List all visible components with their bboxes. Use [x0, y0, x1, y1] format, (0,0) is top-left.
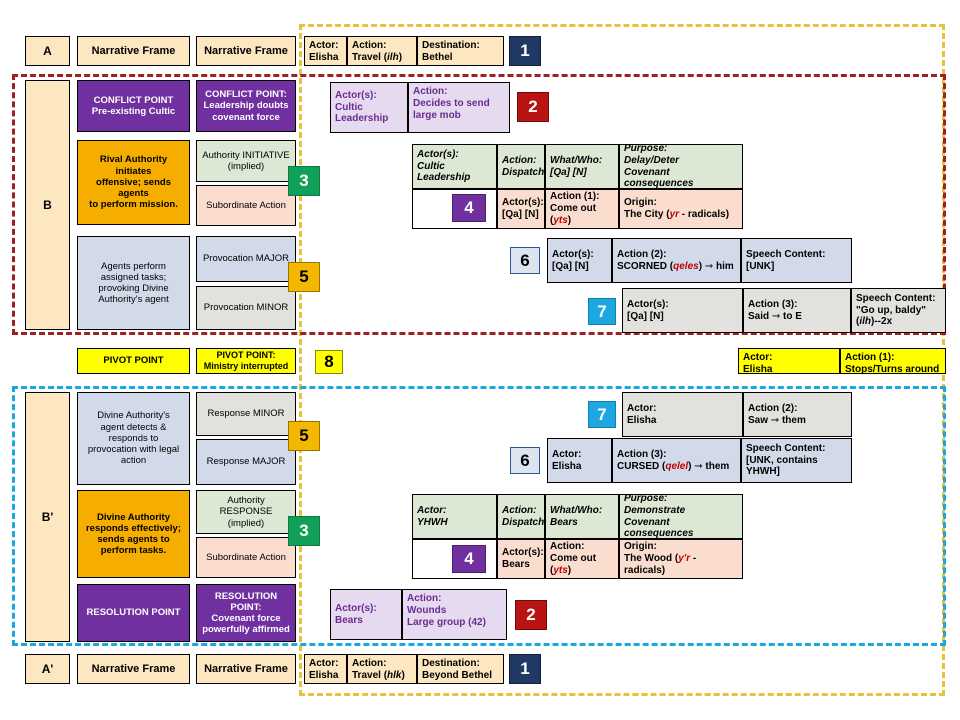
rival-line2: offensive; sends agents	[81, 177, 186, 199]
actor-label: Actor:	[743, 352, 772, 364]
action-line2: Large group (42)	[407, 617, 486, 629]
whatwho-value: Bears	[550, 517, 578, 529]
conflict-detail-line3: covenant force	[212, 112, 280, 123]
purpose-line2: Covenant consequences	[624, 517, 738, 541]
conflict-point-line2: Pre-existing Cultic	[92, 106, 175, 117]
action-line1: Wounds	[407, 605, 446, 617]
purpose-label: Purpose:	[624, 493, 667, 505]
action-label: Action (1):	[845, 352, 894, 364]
actor-value: Bears	[335, 615, 363, 627]
badge-8-pivot: 8	[315, 350, 343, 374]
badge-4-section-bprime: 4	[452, 545, 486, 573]
sub-action-value: Come out (yts)	[550, 203, 614, 227]
action-label: Action:	[413, 86, 447, 98]
section-b-sub-action: Action (1): Come out (yts)	[545, 189, 619, 229]
section-bprime-detail2-action: Action: Wounds Large group (42)	[402, 589, 507, 640]
section-bprime-divine-responds: Divine Authority responds effectively; s…	[77, 490, 190, 578]
section-bprime-subordinate-action: Subordinate Action	[196, 537, 296, 578]
agents-line4: Authority's agent	[98, 294, 168, 305]
action-value: Travel (ilh)	[352, 52, 402, 64]
actor-label: Actor:	[417, 505, 446, 517]
section-b-rival-authority: Rival Authority initiates offensive; sen…	[77, 140, 190, 225]
section-bprime-detail7-actor: Actor: Elisha	[622, 392, 743, 437]
section-aprime-label: A'	[25, 654, 70, 684]
action-line2: large mob	[413, 110, 461, 122]
action-label: Action:	[407, 593, 441, 605]
section-a-actor-cell: Actor: Elisha	[304, 36, 347, 66]
pivot-point-detail: PIVOT POINT: Ministry interrupted	[196, 348, 296, 374]
rival-line1: Rival Authority initiates	[81, 154, 186, 176]
destination-label: Destination:	[422, 40, 480, 52]
section-bprime-response-major: Response MAJOR	[196, 439, 296, 485]
badge-5-section-bprime: 5	[288, 421, 320, 451]
section-bprime-response-minor: Response MINOR	[196, 392, 296, 436]
action-label: Action:	[502, 155, 536, 167]
section-b-sub-actor: Actor(s): [Qa] [N]	[497, 189, 545, 229]
actor-value: [Qa] [N]	[552, 261, 589, 273]
region-divider-yellow-left	[299, 24, 302, 696]
section-b-conflict-point: CONFLICT POINT Pre-existing Cultic	[77, 80, 190, 132]
section-b-detail6-speech: Speech Content: [UNK]	[741, 238, 852, 283]
actor-value: Elisha	[743, 364, 772, 376]
destination-value: Bethel	[422, 52, 453, 64]
divine-responds-line2: responds effectively;	[86, 523, 181, 534]
action-label: Action:	[502, 505, 536, 517]
badge-3-section-b: 3	[288, 166, 320, 196]
section-b-detail2-actor: Actor(s): Cultic Leadership	[330, 82, 408, 133]
actor-value: YHWH	[417, 517, 448, 529]
origin-label: Origin:	[624, 541, 657, 553]
action-value: Said ⇾ to E	[748, 311, 802, 323]
pivot-point-left: PIVOT POINT	[77, 348, 190, 374]
section-aprime-actor-cell: Actor: Elisha	[304, 654, 347, 684]
section-a-label: A	[25, 36, 70, 66]
section-bprime-detail6-actor: Actor: Elisha	[547, 438, 612, 483]
action-line1: Decides to send	[413, 98, 490, 110]
origin-value: The Wood (y'r - radicals)	[624, 553, 738, 577]
actor-label: Actor:	[627, 403, 656, 415]
section-b-dispatch-whatwho: What/Who: [Qa] [N]	[545, 144, 619, 189]
actor-value: Elisha	[309, 670, 338, 682]
actor-label: Actor(s):	[335, 90, 377, 102]
section-a-frame-2: Narrative Frame	[196, 36, 296, 66]
section-b-dispatch-action: Action: Dispatch	[497, 144, 545, 189]
section-bprime-dispatch-action: Action: Dispatch	[497, 494, 545, 539]
actor-label: Actor:	[309, 40, 338, 52]
section-a-destination-cell: Destination: Bethel	[417, 36, 504, 66]
section-aprime-action-cell: Action: Travel (hlk)	[347, 654, 417, 684]
section-bprime-dispatch-purpose: Purpose: Demonstrate Covenant consequenc…	[619, 494, 743, 539]
speech-value: [UNK, contains YHWH]	[746, 455, 847, 479]
authority-initiative-line2: (implied)	[228, 161, 264, 172]
agents-line2: assigned tasks;	[101, 272, 166, 283]
badge-4-section-b: 4	[452, 194, 486, 222]
destination-label: Destination:	[422, 658, 480, 670]
action-label: Action (3):	[617, 449, 666, 461]
divine-detect-line5: action	[121, 455, 146, 466]
actor-label: Actor(s):	[552, 249, 594, 261]
action-label: Action:	[352, 658, 386, 670]
section-b-conflict-point-detail: CONFLICT POINT: Leadership doubts covena…	[196, 80, 296, 132]
section-bprime-label: B'	[25, 392, 70, 642]
actor-value: Cultic Leadership	[417, 161, 492, 185]
resolution-line2: Covenant force	[211, 613, 280, 624]
sub-actor-value: Bears	[502, 559, 530, 571]
section-bprime-detail2-actor: Actor(s): Bears	[330, 589, 402, 640]
section-bprime-resolution-detail: RESOLUTION POINT: Covenant force powerfu…	[196, 584, 296, 642]
sub-actor-value: [Qa] [N]	[502, 209, 539, 221]
action-value: Stops/Turns around	[845, 364, 939, 376]
pivot-line1: PIVOT POINT:	[216, 350, 275, 361]
section-bprime-sub-actor: Actor(s): Bears	[497, 539, 545, 579]
section-a-action-cell: Action: Travel (ilh)	[347, 36, 417, 66]
action-value: CURSED (qelel) ⇾ them	[617, 461, 729, 473]
divine-detect-line3: responds to	[109, 433, 159, 444]
conflict-detail-line1: CONFLICT POINT:	[205, 89, 287, 100]
sub-actor-label: Actor(s):	[502, 547, 544, 559]
section-b-origin: Origin: The City (yr - radicals)	[619, 189, 743, 229]
section-bprime-detail6-action: Action (3): CURSED (qelel) ⇾ them	[612, 438, 741, 483]
section-b-detail6-action: Action (2): SCORNED (qeles) ⇾ him	[612, 238, 741, 283]
section-b-provocation-minor: Provocation MINOR	[196, 286, 296, 330]
action-value: Dispatch	[502, 167, 544, 179]
origin-label: Origin:	[624, 197, 657, 209]
badge-6-section-b: 6	[510, 247, 540, 274]
section-aprime-frame-2: Narrative Frame	[196, 654, 296, 684]
badge-6-section-bprime: 6	[510, 447, 540, 474]
sub-action-label: Action (1):	[550, 191, 599, 203]
section-b-dispatch-purpose: Purpose: Delay/Deter Covenant consequenc…	[619, 144, 743, 189]
agents-line1: Agents perform	[101, 261, 166, 272]
rival-line3: to perform mission.	[89, 199, 178, 210]
actor-value: Cultic Leadership	[335, 102, 403, 126]
sub-action-value: Come out (yts)	[550, 553, 614, 577]
action-label: Action (2):	[748, 403, 797, 415]
whatwho-label: What/Who:	[550, 505, 602, 517]
badge-7-section-b: 7	[588, 298, 616, 325]
pivot-actor-cell: Actor: Elisha	[738, 348, 840, 374]
whatwho-value: [Qa] [N]	[550, 167, 587, 179]
origin-value: The City (yr - radicals)	[624, 209, 729, 221]
badge-1-section-a: 1	[509, 36, 541, 66]
conflict-point-line1: CONFLICT POINT	[94, 95, 174, 106]
section-b-authority-initiative: Authority INITIATIVE (implied)	[196, 140, 296, 182]
section-b-detail7-action: Action (3): Said ⇾ to E	[743, 288, 851, 333]
resolution-line1: RESOLUTION POINT:	[200, 591, 292, 613]
actor-label: Actor(s):	[335, 603, 377, 615]
action-value: Dispatch	[502, 517, 544, 529]
section-b-detail6-actor: Actor(s): [Qa] [N]	[547, 238, 612, 283]
action-label: Action:	[352, 40, 386, 52]
section-bprime-dispatch-whatwho: What/Who: Bears	[545, 494, 619, 539]
badge-3-section-bprime: 3	[288, 516, 320, 546]
section-aprime-frame-1: Narrative Frame	[77, 654, 190, 684]
section-b-detail2-action: Action: Decides to send large mob	[408, 82, 510, 133]
speech-label: Speech Content:	[746, 249, 825, 261]
divine-responds-line3: sends agents to	[97, 534, 169, 545]
section-bprime-divine-detect: Divine Authority's agent detects & respo…	[77, 392, 190, 485]
section-a-frame-1: Narrative Frame	[77, 36, 190, 66]
pivot-line2: Ministry interrupted	[204, 361, 289, 372]
pivot-action-cell: Action (1): Stops/Turns around	[840, 348, 946, 374]
section-bprime-authority-response: Authority RESPONSE (implied)	[196, 490, 296, 534]
badge-5-section-b: 5	[288, 262, 320, 292]
actor-value: Elisha	[627, 415, 656, 427]
authority-response-line2: (implied)	[228, 518, 264, 529]
section-b-subordinate-action: Subordinate Action	[196, 185, 296, 226]
divine-responds-line4: perform tasks.	[101, 545, 166, 556]
speech-line1: "Go up, baldy"	[856, 305, 926, 317]
whatwho-label: What/Who:	[550, 155, 602, 167]
section-aprime-destination-cell: Destination: Beyond Bethel	[417, 654, 504, 684]
agents-line3: provoking Divine	[98, 283, 168, 294]
speech-value: [UNK]	[746, 261, 774, 273]
badge-2-section-b: 2	[517, 92, 549, 122]
purpose-line1: Delay/Deter	[624, 155, 679, 167]
divine-responds-line1: Divine Authority	[97, 512, 170, 523]
section-b-label: B	[25, 80, 70, 330]
actor-value: Elisha	[309, 52, 338, 64]
badge-2-section-bprime: 2	[515, 600, 547, 630]
resolution-line3: powerfully affirmed	[202, 624, 290, 635]
actor-value: Elisha	[552, 461, 581, 473]
badge-7-section-bprime: 7	[588, 401, 616, 428]
sub-actor-label: Actor(s):	[502, 197, 544, 209]
speech-label: Speech Content:	[856, 293, 935, 305]
section-bprime-detail6-speech: Speech Content: [UNK, contains YHWH]	[741, 438, 852, 483]
section-b-provocation-major: Provocation MAJOR	[196, 236, 296, 282]
sub-action-label: Action:	[550, 541, 584, 553]
divine-detect-line2: agent detects &	[100, 422, 166, 433]
speech-label: Speech Content:	[746, 443, 825, 455]
divine-detect-line1: Divine Authority's	[97, 410, 170, 421]
section-bprime-dispatch-actor: Actor: YHWH	[412, 494, 497, 539]
section-bprime-resolution-point: RESOLUTION POINT	[77, 584, 190, 642]
conflict-detail-line2: Leadership doubts	[204, 100, 289, 111]
purpose-line1: Demonstrate	[624, 505, 685, 517]
divine-detect-line4: provocation with legal	[88, 444, 179, 455]
action-value: Saw ⇾ them	[748, 415, 806, 427]
actor-label: Actor:	[309, 658, 338, 670]
section-bprime-sub-action: Action: Come out (yts)	[545, 539, 619, 579]
action-value: SCORNED (qeles) ⇾ him	[617, 261, 734, 273]
action-value: Travel (hlk)	[352, 670, 405, 682]
actor-label: Actor(s):	[627, 299, 669, 311]
actor-value: [Qa] [N]	[627, 311, 664, 323]
section-bprime-detail7-action: Action (2): Saw ⇾ them	[743, 392, 852, 437]
section-bprime-origin: Origin: The Wood (y'r - radicals)	[619, 539, 743, 579]
action-label: Action (2):	[617, 249, 666, 261]
section-b-detail7-speech: Speech Content: "Go up, baldy" (ilh)--2x	[851, 288, 946, 333]
destination-value: Beyond Bethel	[422, 670, 492, 682]
section-b-detail7-actor: Actor(s): [Qa] [N]	[622, 288, 743, 333]
actor-label: Actor(s):	[417, 149, 459, 161]
actor-label: Actor:	[552, 449, 581, 461]
purpose-line2: Covenant consequences	[624, 167, 738, 191]
authority-initiative-line1: Authority INITIATIVE	[202, 150, 289, 161]
speech-line2: (ilh)--2x	[856, 316, 892, 328]
purpose-label: Purpose:	[624, 143, 667, 155]
section-b-dispatch-actor: Actor(s): Cultic Leadership	[412, 144, 497, 189]
section-b-agents-perform: Agents perform assigned tasks; provoking…	[77, 236, 190, 330]
action-label: Action (3):	[748, 299, 797, 311]
badge-1-section-aprime: 1	[509, 654, 541, 684]
authority-response-line1: Authority RESPONSE	[200, 495, 292, 517]
